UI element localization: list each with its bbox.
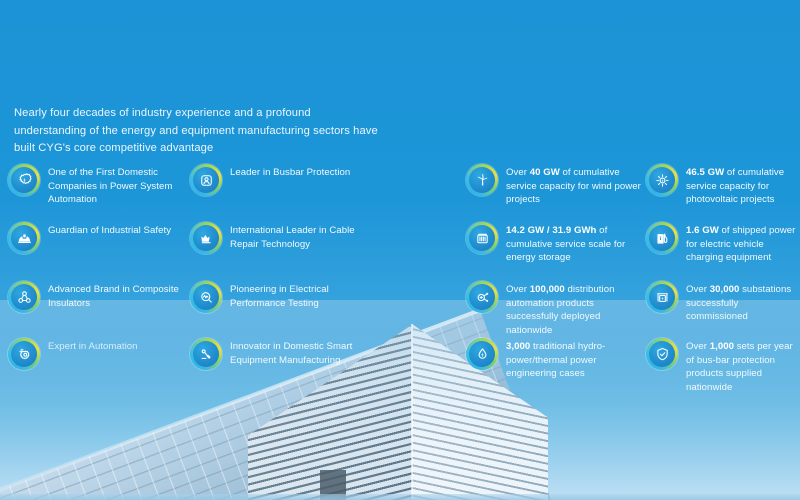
poster-canvas: Nearly four decades of industry experien… [0,0,800,500]
feature-label: Leader in Busbar Protection [230,164,350,180]
ev-charger-icon [646,222,678,254]
feature-label: One of the First Domestic Companies in P… [48,164,188,207]
stat-item[interactable]: 14.2 GW / 31.9 GWh of cumulative service… [466,222,644,265]
feature-item[interactable]: Pioneering in Electrical Performance Tes… [190,281,370,313]
stat-item[interactable]: 46.5 GW of cumulative service capacity f… [646,164,800,207]
stat-label: 3,000 traditional hydro-power/thermal po… [506,338,644,381]
feature-label: Innovator in Domestic Smart Equipment Ma… [230,338,370,367]
battery-storage-icon [466,222,498,254]
stat-item[interactable]: 3,000 traditional hydro-power/thermal po… [466,338,644,381]
stat-label: Over 40 GW of cumulative service capacit… [506,164,644,207]
stat-item[interactable]: Over 1,000 sets per year of bus-bar prot… [646,338,800,394]
stat-label: 46.5 GW of cumulative service capacity f… [686,164,800,207]
stat-label: Over 30,000 substations successfully com… [686,281,800,324]
photo-bottom-edge [0,494,800,500]
hard-hat-icon [8,222,40,254]
stat-label: 1.6 GW of shipped power for electric veh… [686,222,800,265]
stat-label: Over 1,000 sets per year of bus-bar prot… [686,338,800,394]
stat-item[interactable]: Over 100,000 distribution automation pro… [466,281,644,337]
feature-label: Guardian of Industrial Safety [48,222,171,238]
gear-power-icon [8,164,40,196]
stat-item[interactable]: 1.6 GW of shipped power for electric veh… [646,222,800,265]
feature-label: Expert in Automation [48,338,138,354]
stat-item[interactable]: Over 30,000 substations successfully com… [646,281,800,324]
features-grid: One of the First Domestic Companies in P… [0,160,800,390]
feature-label: Advanced Brand in Composite Insulators [48,281,188,310]
composite-insulator-icon [8,281,40,313]
feature-item[interactable]: Innovator in Domestic Smart Equipment Ma… [190,338,370,370]
crown-icon [190,222,222,254]
robot-arm-icon [190,338,222,370]
wind-turbine-icon [466,164,498,196]
hydro-power-drop-icon [466,338,498,370]
feature-label: International Leader in Cable Repair Tec… [230,222,370,251]
solar-panel-icon [646,164,678,196]
feature-item[interactable]: Leader in Busbar Protection [190,164,350,196]
substation-icon [646,281,678,313]
automation-gear-icon [8,338,40,370]
busbar-shield-icon [190,164,222,196]
stat-item[interactable]: Over 40 GW of cumulative service capacit… [466,164,644,207]
feature-item[interactable]: Guardian of Industrial Safety [8,222,171,254]
distribution-automation-icon [466,281,498,313]
headline-text: Nearly four decades of industry experien… [14,105,386,158]
feature-item[interactable]: Advanced Brand in Composite Insulators [8,281,188,313]
feature-label: Pioneering in Electrical Performance Tes… [230,281,370,310]
shield-check-icon [646,338,678,370]
feature-item[interactable]: Expert in Automation [8,338,138,370]
waveform-magnifier-icon [190,281,222,313]
stat-label: 14.2 GW / 31.9 GWh of cumulative service… [506,222,644,265]
feature-item[interactable]: International Leader in Cable Repair Tec… [190,222,370,254]
feature-item[interactable]: One of the First Domestic Companies in P… [8,164,188,207]
stat-label: Over 100,000 distribution automation pro… [506,281,644,337]
